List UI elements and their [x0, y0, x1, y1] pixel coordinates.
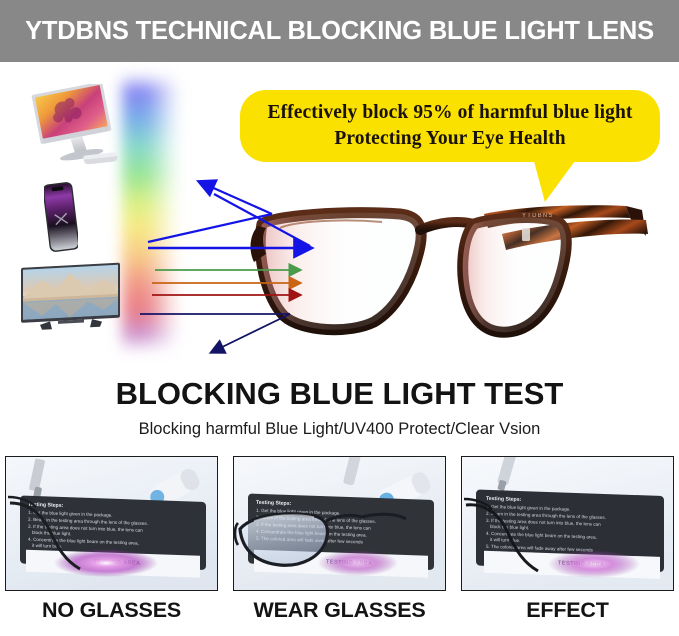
panel-caption-no-glasses: NO GLASSES	[5, 598, 218, 623]
panel-caption-wear-glasses: WEAR GLASSES	[233, 598, 446, 623]
panel-wear-glasses: Testing Steps: 1. Get the blue light giv…	[233, 456, 446, 623]
svg-text:Testing Steps:: Testing Steps:	[486, 496, 522, 503]
speech-bubble-line-2: Protecting Your Eye Health	[334, 126, 565, 152]
panel-no-glasses-image: Testing Steps: 1. Get the blue light giv…	[5, 456, 218, 591]
light-spectrum-band	[122, 74, 180, 352]
desktop-monitor-icon	[22, 84, 122, 176]
hero-section: YTDBNS	[0, 62, 679, 370]
svg-text:YTDBNS: YTDBNS	[522, 213, 554, 219]
header-banner: YTDBNS TECHNICAL BLOCKING BLUE LIGHT LEN…	[0, 0, 679, 62]
speech-bubble-tail	[527, 158, 577, 202]
panel-effect-image: Testing Steps: 1. Get the blue light giv…	[461, 456, 674, 591]
blue-light-glasses-image: YTDBNS	[222, 184, 662, 354]
page-title: YTDBNS TECHNICAL BLOCKING BLUE LIGHT LEN…	[0, 0, 679, 62]
panel-no-glasses: Testing Steps: 1. Get the blue light giv…	[5, 456, 218, 623]
television-icon	[18, 262, 123, 334]
test-heading: BLOCKING BLUE LIGHT TEST	[0, 376, 679, 412]
speech-bubble-line-1: Effectively block 95% of harmful blue li…	[267, 100, 632, 126]
test-subheading: Blocking harmful Blue Light/UV400 Protec…	[0, 420, 679, 439]
panel-caption-effect: EFFECT	[461, 598, 674, 623]
svg-text:it will turn blue.: it will turn blue.	[490, 537, 520, 543]
svg-text:Testing Steps:: Testing Steps:	[256, 500, 292, 507]
speech-bubble: Effectively block 95% of harmful blue li…	[240, 90, 660, 162]
test-panels-row: Testing Steps: 1. Get the blue light giv…	[0, 456, 679, 636]
smartphone-icon	[44, 182, 78, 252]
blue-light-test-section: BLOCKING BLUE LIGHT TEST Blocking harmfu…	[0, 370, 679, 635]
panel-wear-glasses-image: Testing Steps: 1. Get the blue light giv…	[233, 456, 446, 591]
panel-effect: Testing Steps: 1. Get the blue light giv…	[461, 456, 674, 623]
